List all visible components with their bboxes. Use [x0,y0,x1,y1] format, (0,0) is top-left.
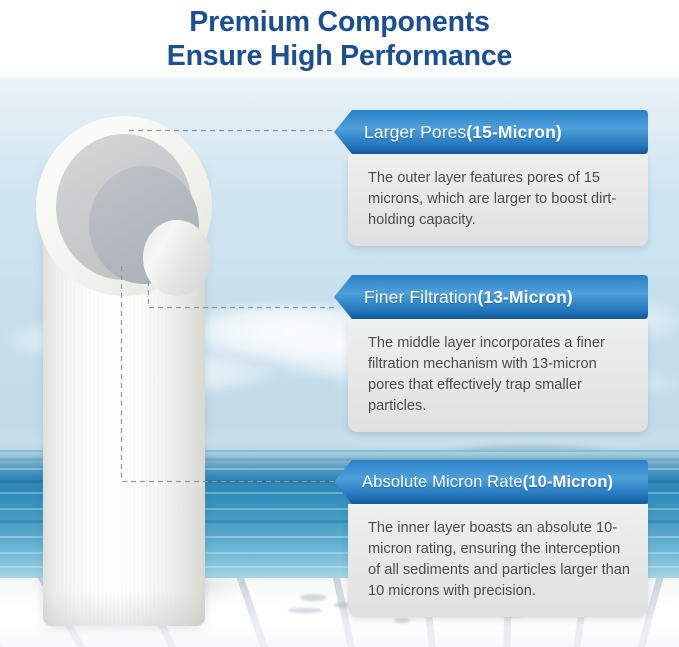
callout-title-spec: (10-Micron) [523,472,614,492]
cartridge-inner-core [143,220,211,296]
callout-header-middle: Finer Filtration (13-Micron) [334,275,648,319]
callout-description-middle: The middle layer incorporates a finer fi… [348,319,648,432]
deck-speckle [300,594,326,601]
page-title: Premium Components Ensure High Performan… [0,0,679,78]
deck-plank [0,578,8,647]
cartridge-ring-outer [56,134,192,280]
callout-card-middle-layer[interactable]: Finer Filtration (13-Micron) The middle … [334,275,648,432]
callout-header-inner: Absolute Micron Rate (10-Micron) [334,460,648,504]
callout-card-outer-layer[interactable]: Larger Pores (15-Micron) The outer layer… [334,110,648,246]
callout-description-outer: The outer layer features pores of 15 mic… [348,154,648,246]
callout-description-inner: The inner layer boasts an absolute 10-mi… [348,504,648,617]
title-line-2: Ensure High Performance [167,39,512,73]
callout-title-spec: (13-Micron) [477,287,572,308]
callout-title-spec: (15-Micron) [466,122,561,143]
deck-speckle [394,618,410,623]
callout-card-inner-layer[interactable]: Absolute Micron Rate (10-Micron) The inn… [334,460,648,617]
title-line-1: Premium Components [189,5,489,39]
deck-speckle [288,608,322,613]
callout-title-lead: Larger Pores [364,122,466,143]
filter-cartridge [36,116,212,626]
cartridge-ring-middle [89,166,199,284]
callout-title-lead: Finer Filtration [364,287,477,308]
cartridge-outer-layer [36,116,212,296]
callout-title-lead: Absolute Micron Rate [362,472,523,492]
callout-header-outer: Larger Pores (15-Micron) [334,110,648,154]
cartridge-base-shade [43,590,205,626]
